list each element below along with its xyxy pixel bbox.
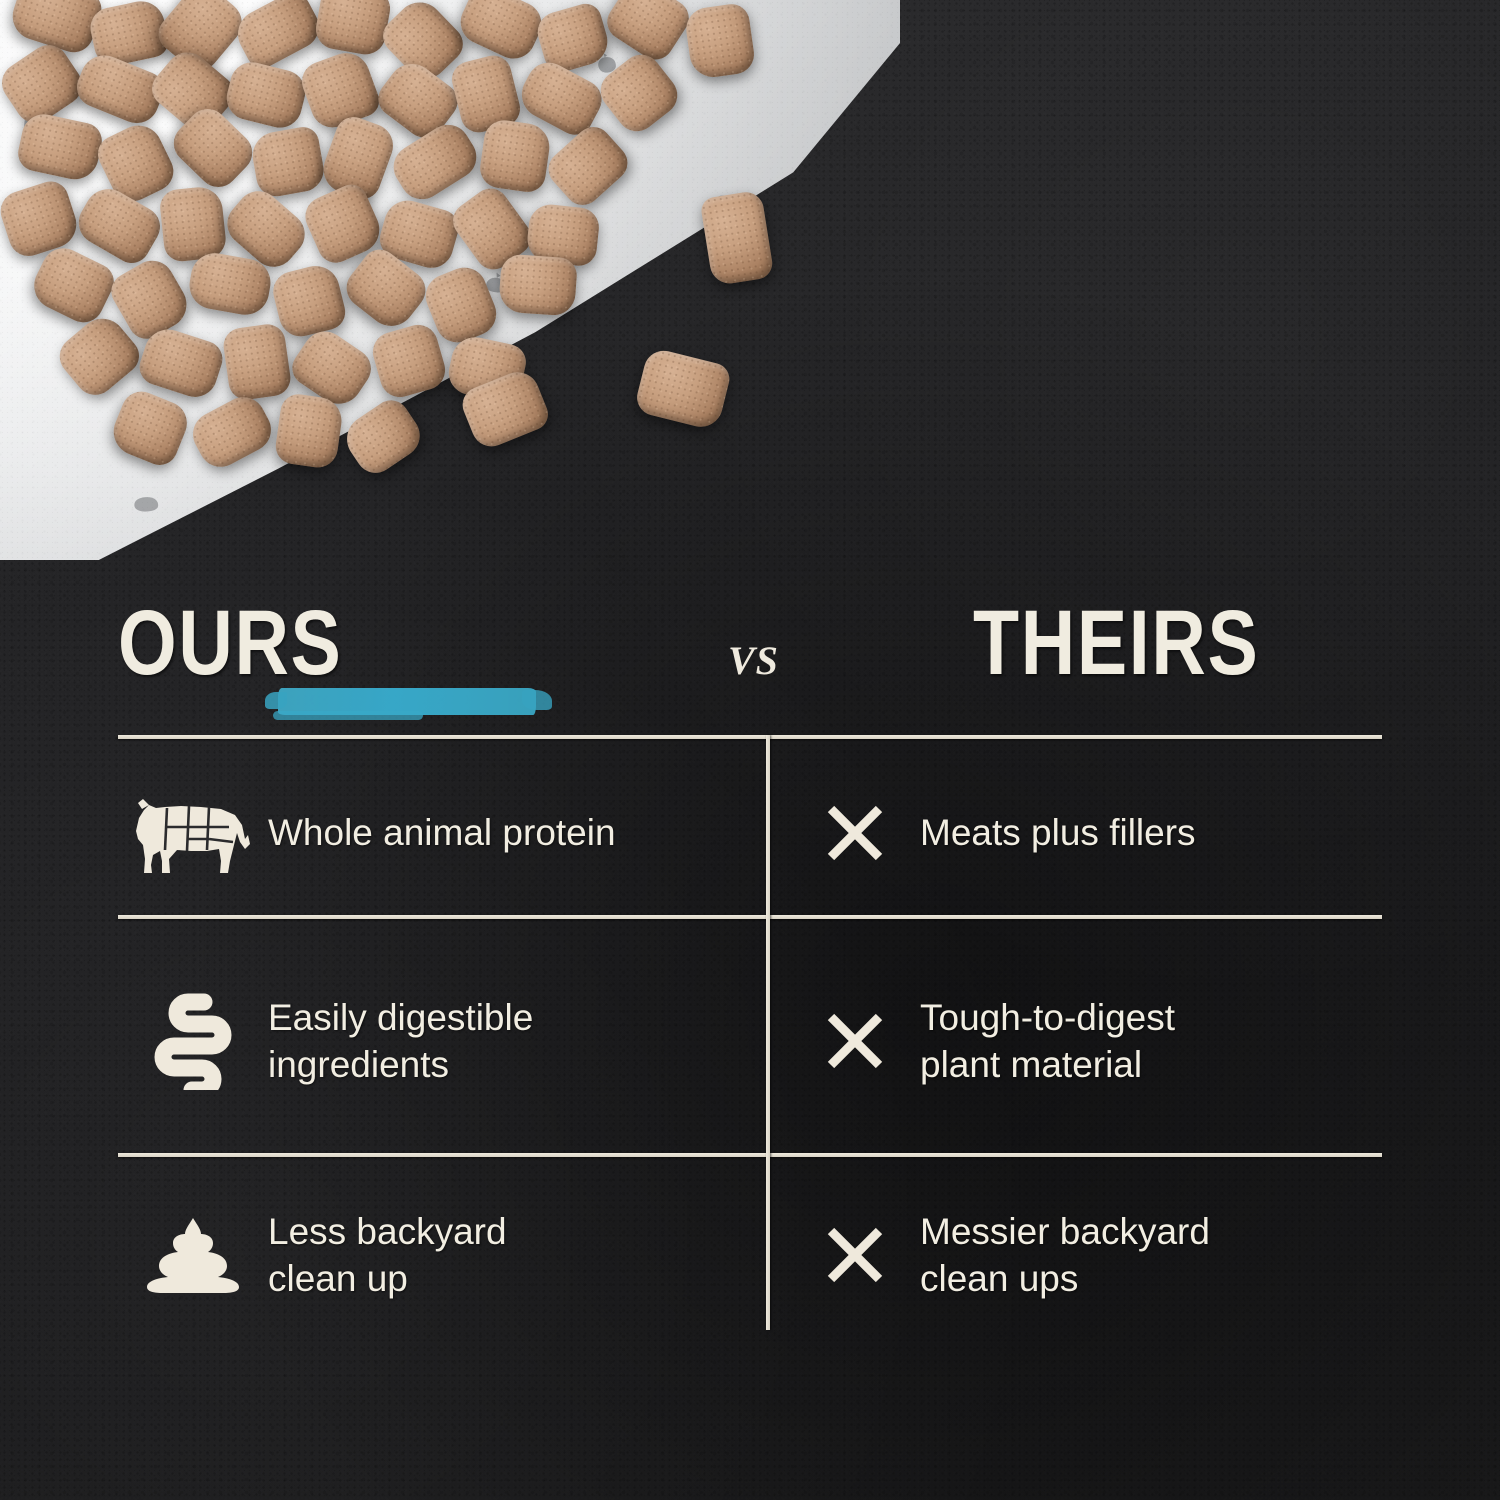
teal-brush-underline-accent [273, 711, 423, 720]
ours-row-2-line-2: ingredients [268, 1044, 449, 1085]
theirs-heading: THEIRS [973, 595, 1259, 691]
kibble-piece [683, 2, 756, 80]
theirs-row-2-line-2: plant material [920, 1044, 1142, 1085]
table-rule-1 [118, 915, 1382, 919]
x-mark-icon [790, 802, 920, 864]
kibble-piece [633, 347, 732, 432]
table-row: Whole animal protein [118, 755, 758, 910]
kibble-piece [158, 185, 227, 263]
ours-row-3-line-2: clean up [268, 1258, 408, 1299]
product-photo: BUTCHER CUT PROTEIN BUTCHER CUT PROTEIN [0, 0, 900, 560]
x-mark-icon [790, 1010, 920, 1072]
theirs-row-2-text: Tough-to-digestplant material [920, 994, 1175, 1088]
ours-row-1-text: Whole animal protein [268, 809, 616, 856]
theirs-row-3-line-2: clean ups [920, 1258, 1078, 1299]
table-row: Easily digestibleingredients [118, 935, 758, 1147]
table-rule-2 [118, 1153, 1382, 1157]
intestine-icon [118, 992, 268, 1090]
x-mark-icon [790, 1224, 920, 1286]
comparison-headers: OURS VS THEIRS [118, 595, 1382, 715]
kibble-piece [273, 392, 344, 470]
kibble-piece [699, 190, 774, 287]
cow-butcher-chart-icon [118, 787, 268, 879]
table-row: Messier backyardclean ups [790, 1175, 1390, 1335]
table-rule-top [118, 735, 1382, 739]
theirs-row-3-line-1: Messier backyard [920, 1211, 1210, 1252]
vs-label: VS [728, 637, 779, 684]
product-comparison-graphic: BUTCHER CUT PROTEIN BUTCHER CUT PROTEIN [0, 0, 1500, 1500]
comparison-table: OURS VS THEIRS [0, 560, 1500, 1500]
table-row: Tough-to-digestplant material [790, 935, 1390, 1147]
table-row: Less backyardclean up [118, 1175, 758, 1335]
kibble-piece [478, 118, 553, 195]
ours-heading: OURS [118, 595, 343, 691]
kibble-piece [221, 322, 292, 402]
ours-row-2-text: Easily digestibleingredients [268, 994, 533, 1088]
table-row: Meats plus fillers [790, 755, 1390, 910]
ours-row-3-line-1: Less backyard [268, 1211, 507, 1252]
table-column-divider [766, 735, 770, 1330]
kibble-piece [498, 253, 578, 316]
ours-row-3-text: Less backyardclean up [268, 1208, 507, 1302]
theirs-row-3-text: Messier backyardclean ups [920, 1208, 1210, 1302]
ours-row-2-line-1: Easily digestible [268, 997, 533, 1038]
theirs-row-2-line-1: Tough-to-digest [920, 997, 1175, 1038]
theirs-row-1-text: Meats plus fillers [920, 809, 1196, 856]
poop-icon [118, 1216, 268, 1294]
